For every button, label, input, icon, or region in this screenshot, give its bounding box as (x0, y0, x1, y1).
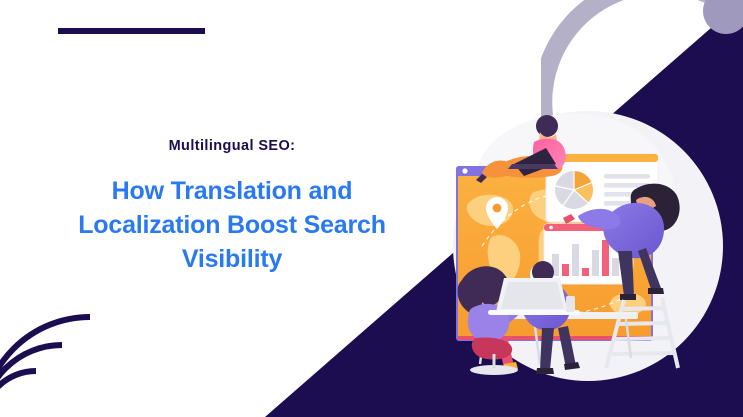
global-seo-teamwork-illustration (438, 96, 743, 381)
pie-chart (555, 171, 593, 209)
navy-rule (58, 28, 205, 34)
eyebrow-label: Multilingual SEO: (22, 138, 442, 154)
concentric-arcs (0, 310, 160, 417)
banner-canvas: Multilingual SEO: How Translation and Lo… (0, 0, 743, 417)
headline-line-3: Visibility (22, 242, 442, 276)
headline-block: Multilingual SEO: How Translation and Lo… (22, 138, 442, 276)
headline-line-2: Localization Boost Search (22, 208, 442, 242)
page-title: How Translation and Localization Boost S… (22, 174, 442, 276)
headline-line-1: How Translation and (22, 174, 442, 208)
